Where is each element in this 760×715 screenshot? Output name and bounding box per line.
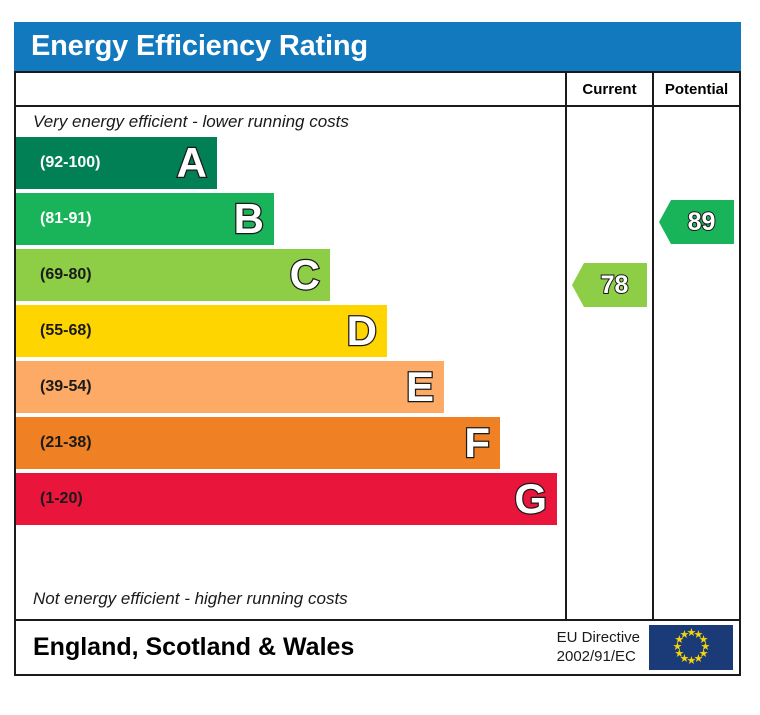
page-title: Energy Efficiency Rating [31,30,368,63]
caption-efficient: Very energy efficient - lower running co… [33,112,349,132]
footer-region-label: England, Scotland & Wales [16,621,557,674]
band-range-label: (81-91) [40,210,92,228]
eu-flag-icon: ★★★★★★★★★★★★ [649,625,733,670]
band-bar-b: (81-91)B [16,193,274,245]
band-bar-d: (55-68)D [16,305,387,357]
current-rating-column: 78 [565,107,652,619]
band-range-label: (55-68) [40,322,92,340]
header-spacer-cell [16,73,565,105]
current-rating-arrow-value: 78 [601,273,629,298]
energy-efficiency-certificate: Energy Efficiency Rating Current Potenti… [14,22,741,676]
table-body-row: Very energy efficient - lower running co… [16,107,739,619]
eu-star-icon: ★ [680,631,689,640]
band-range-label: (69-80) [40,266,92,284]
current-rating-arrow: 78 [572,263,647,307]
band-letter: A [177,142,207,184]
rating-bands-column: Very energy efficient - lower running co… [16,107,565,619]
band-letter: G [514,478,547,520]
band-range-label: (1-20) [40,490,83,508]
band-letter: D [347,310,377,352]
potential-rating-arrow: 89 [659,200,734,244]
band-letter: C [290,254,320,296]
caption-inefficient: Not energy efficient - higher running co… [33,589,348,609]
table-header-row: Current Potential [16,73,739,107]
potential-rating-arrow-value: 89 [688,210,716,235]
column-header-current: Current [565,73,652,105]
band-bar-c: (69-80)C [16,249,330,301]
directive-line-2: 2002/91/EC [557,648,636,667]
band-bar-a: (92-100)A [16,137,217,189]
column-header-potential: Potential [652,73,739,105]
band-letter: F [464,422,490,464]
band-range-label: (39-54) [40,378,92,396]
potential-rating-column: 89 [652,107,739,619]
band-letter: E [406,366,434,408]
band-bar-g: (1-20)G [16,473,557,525]
band-range-label: (92-100) [40,154,100,172]
certificate-footer: England, Scotland & Wales EU Directive 2… [14,621,741,676]
eu-directive-text: EU Directive 2002/91/EC [557,621,649,674]
band-bar-e: (39-54)E [16,361,444,413]
band-range-label: (21-38) [40,434,92,452]
chart-title-bar: Energy Efficiency Rating [14,22,741,71]
band-letter: B [234,198,264,240]
directive-line-1: EU Directive [557,629,640,648]
rating-table: Current Potential Very energy efficient … [14,71,741,621]
band-bar-f: (21-38)F [16,417,500,469]
